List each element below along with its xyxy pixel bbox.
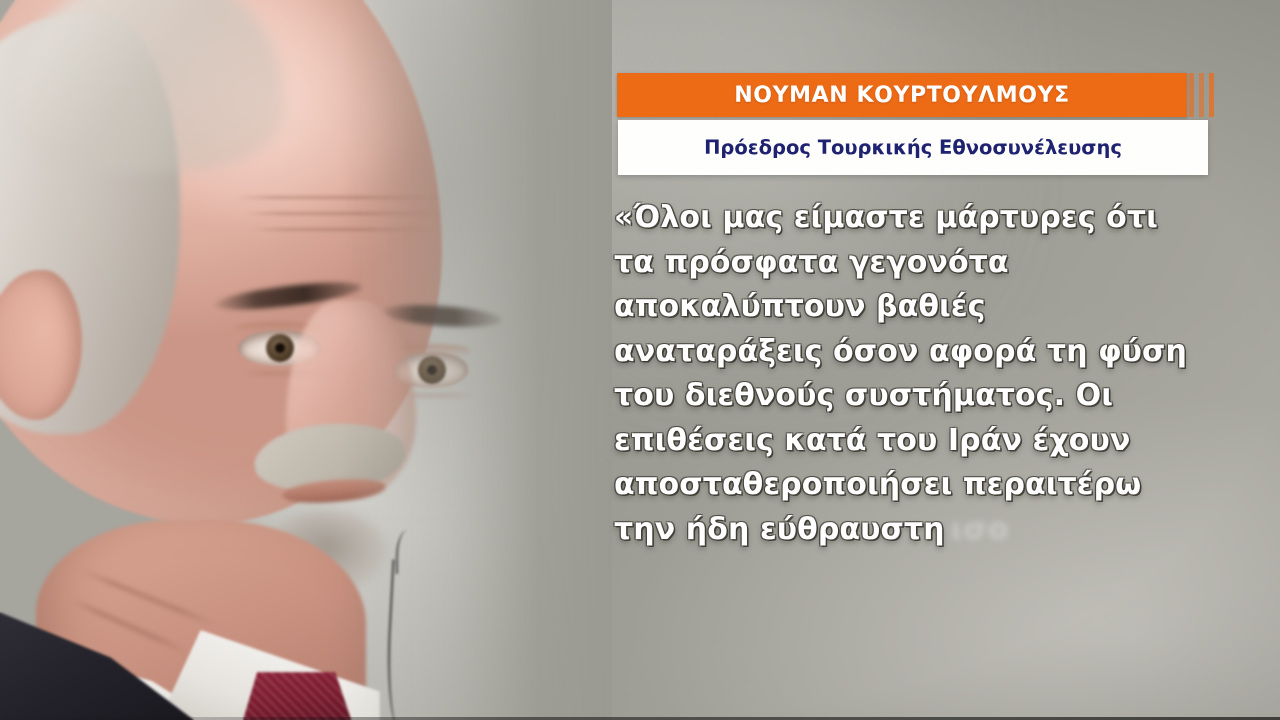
broadcast-frame: ΝΟΥΜΑΝ ΚΟΥΡΤΟΥΛΜΟΥΣ Πρόεδρος Τουρκικής Ε… — [0, 0, 1280, 720]
quote-text: «Όλοι μας είμαστε μάρτυρες ότι τα πρόσφα… — [614, 200, 1187, 547]
lower-third-banner: ΝΟΥΜΑΝ ΚΟΥΡΤΟΥΛΜΟΥΣ Πρόεδρος Τουρκικής Ε… — [617, 73, 1208, 117]
accent-stripe — [1209, 73, 1214, 117]
quote-block: «Όλοι μας είμαστε μάρτυρες ότι τα πρόσφα… — [614, 196, 1194, 552]
speaker-name-bar: ΝΟΥΜΑΝ ΚΟΥΡΤΟΥΛΜΟΥΣ — [617, 73, 1187, 117]
portrait-edge-fade — [0, 0, 612, 720]
speaker-name-label: ΝΟΥΜΑΝ ΚΟΥΡΤΟΥΛΜΟΥΣ — [734, 83, 1069, 108]
accent-stripe — [1199, 73, 1204, 117]
quote-trailing-faded-text: ισο — [951, 512, 1010, 547]
speaker-title-label: Πρόεδρος Τουρκικής Εθνοσυνέλευσης — [704, 136, 1122, 159]
speaker-title-bar: Πρόεδρος Τουρκικής Εθνοσυνέλευσης — [618, 120, 1208, 175]
accent-stripes-icon — [1189, 73, 1221, 117]
speaker-portrait-photo — [0, 0, 612, 720]
banner-title-row: ΝΟΥΜΑΝ ΚΟΥΡΤΟΥΛΜΟΥΣ — [617, 73, 1208, 117]
accent-stripe — [1189, 73, 1194, 117]
